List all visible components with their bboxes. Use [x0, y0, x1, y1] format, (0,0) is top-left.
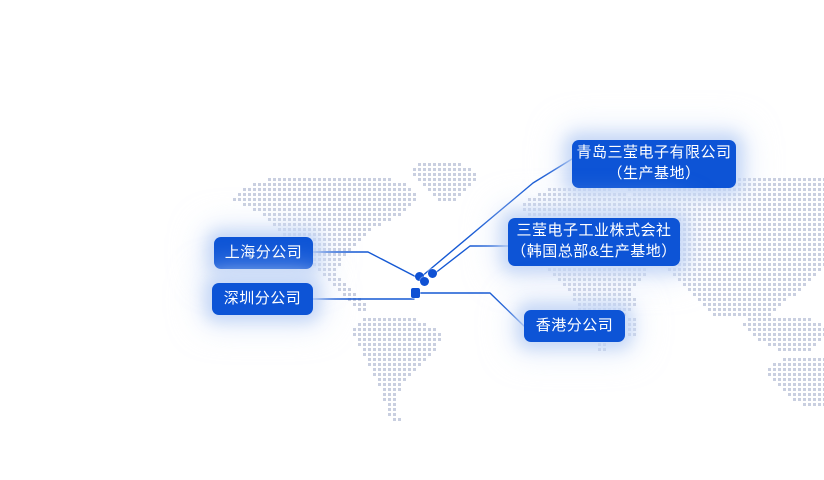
label-korea-hq[interactable]: 三莹电子工业株式会社（韩国总部&生产基地）	[508, 218, 680, 266]
label-hongkong-line-1: 香港分公司	[536, 316, 614, 337]
connector-hongkong	[416, 293, 524, 326]
connector-korea	[434, 246, 508, 274]
label-korea-hq-line-1: 三莹电子工业株式会社	[516, 221, 671, 242]
marker-hongkong[interactable]	[411, 288, 420, 298]
label-hongkong[interactable]: 香港分公司	[524, 310, 625, 342]
label-shanghai[interactable]: 上海分公司	[214, 237, 313, 269]
label-shenzhen[interactable]: 深圳分公司	[212, 283, 313, 315]
label-korea-hq-line-2: （韩国总部&生产基地）	[511, 242, 677, 263]
label-qingdao[interactable]: 青岛三莹电子有限公司（生产基地）	[572, 140, 736, 188]
world-map-infographic: 青岛三莹电子有限公司（生产基地）三莹电子工业株式会社（韩国总部&生产基地）上海分…	[0, 0, 824, 480]
connector-lines-layer	[0, 0, 824, 480]
marker-shanghai[interactable]	[420, 277, 429, 286]
label-shanghai-line-1: 上海分公司	[225, 243, 303, 264]
marker-korea[interactable]	[428, 269, 437, 278]
label-qingdao-line-1: 青岛三莹电子有限公司	[576, 143, 731, 164]
label-shenzhen-line-1: 深圳分公司	[224, 289, 302, 310]
connector-shanghai	[313, 252, 426, 282]
label-qingdao-line-2: （生产基地）	[607, 164, 700, 185]
